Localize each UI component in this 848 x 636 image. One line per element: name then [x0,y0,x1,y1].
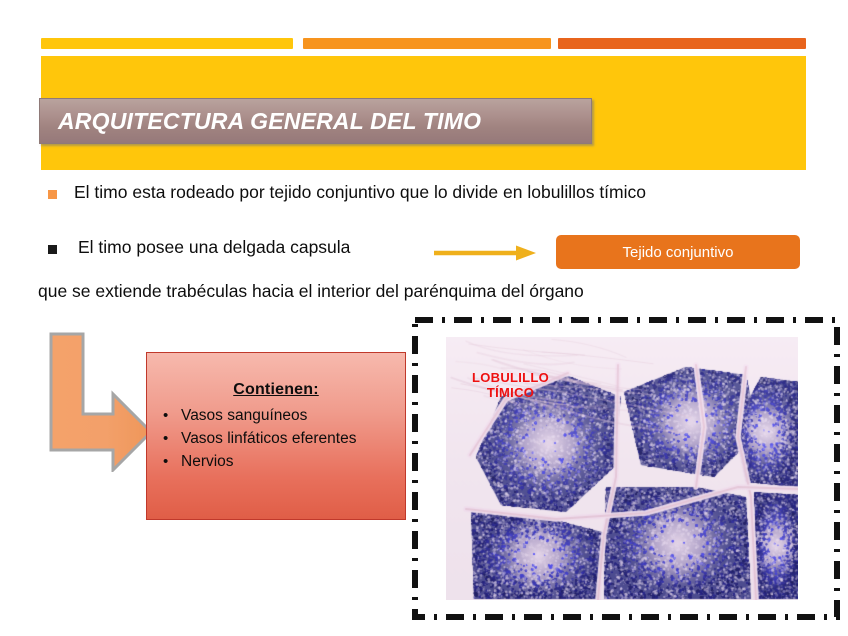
list-item: • Vasos sanguíneos [147,405,405,428]
bullet-square-icon-2 [48,245,57,254]
bullet-dot-icon: • [163,405,181,427]
topbar-segment-yellow [41,38,293,49]
topbar-segment-orange [303,38,551,49]
list-item-label: Vasos linfáticos eferentes [181,428,356,451]
continuation-text: que se extiende trabéculas hacia el inte… [38,281,584,302]
topbar-segment-dark-orange [558,38,806,49]
bullet-text-1: El timo esta rodeado por tejido conjunti… [74,182,646,203]
list-item: • Vasos linfáticos eferentes [147,428,405,451]
list-item-label: Vasos sanguíneos [181,405,307,428]
list-item-label: Nervios [181,451,234,474]
contienen-box: Contienen: • Vasos sanguíneos • Vasos li… [146,352,406,520]
bullet-square-icon-1 [48,190,57,199]
tejido-conjuntivo-label: Tejido conjuntivo [623,244,734,261]
slide-title-plaque: ARQUITECTURA GENERAL DEL TIMO [39,98,592,144]
bullet-text-2: El timo posee una delgada capsula [78,237,350,258]
right-arrow-icon [432,243,538,263]
page-title: ARQUITECTURA GENERAL DEL TIMO [40,108,481,135]
bullet-dot-icon: • [163,428,181,450]
list-item: • Nervios [147,451,405,474]
bullet-dot-icon: • [163,451,181,473]
histology-image: LOBULILLO TÍMICO [446,337,798,600]
histology-panel: LOBULILLO TÍMICO [412,317,840,620]
bent-right-arrow-icon [45,330,157,472]
contienen-heading: Contienen: [147,381,405,399]
tejido-conjuntivo-callout[interactable]: Tejido conjuntivo [556,235,800,269]
histology-canvas [446,337,798,600]
